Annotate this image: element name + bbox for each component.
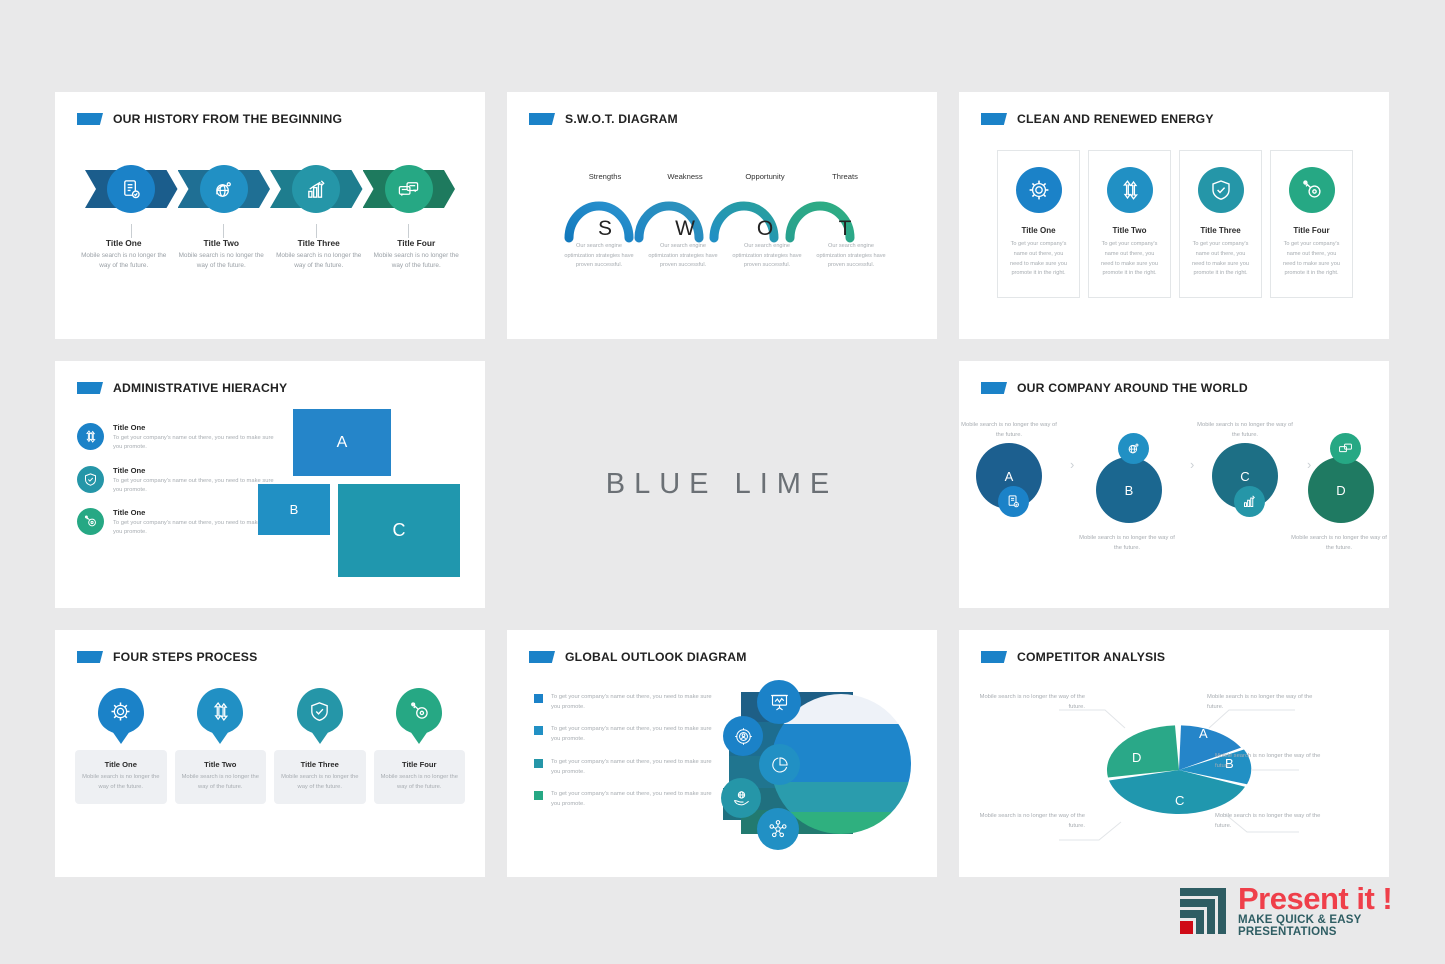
list-item[interactable]: Title One To get your company's name out… (77, 508, 277, 538)
competitor-note: Mobile search is no longer the way of th… (1215, 752, 1323, 772)
card-title: Title One (1021, 226, 1055, 235)
logo-text: Present it ! MAKE QUICK & EASY PRESENTAT… (1238, 884, 1445, 938)
network-nodes-icon (768, 819, 788, 839)
outlook-bubble[interactable] (757, 680, 801, 724)
card-desc: To get your company's name out there, yo… (998, 240, 1079, 279)
world-node-b[interactable]: B (1096, 457, 1162, 523)
row-title: Title One (113, 466, 277, 475)
logo-tagline: MAKE QUICK & EASY PRESENTATIONS (1238, 914, 1445, 938)
timeline-step-icon[interactable] (200, 165, 248, 213)
hierarchy-box-a[interactable]: A (293, 409, 391, 476)
slide-four-steps-process[interactable]: FOUR STEPS PROCESS Title One Mobile sear… (55, 630, 485, 877)
process-step[interactable]: Title One Mobile search is no longer the… (75, 688, 167, 804)
slide-company-around-world[interactable]: OUR COMPANY AROUND THE WORLD Mobile sear… (959, 361, 1389, 608)
pin-marker (396, 688, 442, 734)
page-title: OUR HISTORY FROM THE BEGINNING (113, 112, 342, 126)
page-title: GLOBAL OUTLOOK DIAGRAM (565, 650, 747, 664)
step-desc: Mobile search is no longer the way of th… (274, 251, 364, 271)
step-title: Title Two (181, 760, 261, 769)
outlook-legend: To get your company's name out there, yo… (534, 692, 714, 821)
header-marker-icon (77, 651, 103, 663)
swot-heading: Weakness (645, 172, 725, 181)
timeline (55, 154, 485, 224)
node-label: A (1005, 469, 1014, 484)
bar-growth-icon (305, 178, 328, 201)
step-title: Title Three (280, 760, 360, 769)
slide-brand-title: BLUE LIME (507, 361, 937, 608)
slide-clean-energy[interactable]: CLEAN AND RENEWED ENERGY Title One To ge… (959, 92, 1389, 339)
slide-header: FOUR STEPS PROCESS (77, 650, 257, 664)
card-title: Title Three (1200, 226, 1240, 235)
energy-cards: Title One To get your company's name out… (997, 150, 1353, 298)
legend-text: To get your company's name out there, yo… (551, 789, 714, 809)
node-badge[interactable] (1330, 433, 1361, 464)
arrows-swap-icon (209, 700, 232, 723)
node-badge[interactable] (998, 486, 1029, 517)
swot-letter: T (805, 217, 885, 241)
pin-marker (98, 688, 144, 734)
legend-swatch (534, 726, 543, 735)
swot-desc: Our search engine optimization strategie… (557, 242, 641, 271)
legend-swatch (534, 694, 543, 703)
arrows-swap-icon (83, 429, 98, 444)
presentation-chart-icon (769, 692, 790, 713)
swot-heading: Threats (805, 172, 885, 181)
chat-bubbles-icon (1338, 441, 1353, 456)
legend-swatch (534, 791, 543, 800)
swot-heading: Strengths (565, 172, 645, 181)
energy-card[interactable]: Title Three To get your company's name o… (1179, 150, 1262, 298)
header-marker-icon (981, 113, 1007, 125)
slide-header: OUR HISTORY FROM THE BEGINNING (77, 112, 342, 126)
row-desc: To get your company's name out there, yo… (113, 519, 277, 538)
slide-administrative-hierarchy[interactable]: ADMINISTRATIVE HIERACHY Title One To get… (55, 361, 485, 608)
outlook-bubble[interactable] (723, 716, 763, 756)
header-marker-icon (77, 382, 103, 394)
slide-header: CLEAN AND RENEWED ENERGY (981, 112, 1214, 126)
flow-arrow-icon: › (1070, 457, 1074, 472)
step-title: Title Four (380, 760, 460, 769)
pie-label-d: D (1132, 750, 1141, 765)
pie-slice-d (1107, 725, 1179, 777)
row-desc: To get your company's name out there, yo… (113, 434, 277, 453)
legend-item[interactable]: To get your company's name out there, yo… (534, 692, 714, 712)
competitor-note: Mobile search is no longer the way of th… (1215, 812, 1323, 832)
swot-desc: Our search engine optimization strategie… (809, 242, 893, 271)
step-desc: Mobile search is no longer the way of th… (177, 251, 267, 271)
header-marker-icon (77, 113, 103, 125)
node-badge[interactable] (1118, 433, 1149, 464)
pie-label-c: C (1175, 793, 1184, 808)
world-nodes: Mobile search is no longer the way of th… (959, 361, 1389, 608)
legend-item[interactable]: To get your company's name out there, yo… (534, 789, 714, 809)
competitor-note: Mobile search is no longer the way of th… (977, 812, 1085, 832)
timeline-label: Title Three Mobile search is no longer t… (270, 238, 368, 271)
shield-check-icon (83, 472, 98, 487)
energy-card[interactable]: Title Four To get your company's name ou… (1270, 150, 1353, 298)
document-check-icon (120, 178, 143, 201)
legend-item[interactable]: To get your company's name out there, yo… (534, 757, 714, 777)
legend-swatch (534, 759, 543, 768)
card-desc: To get your company's name out there, yo… (1089, 240, 1170, 279)
swot-desc: Our search engine optimization strategie… (725, 242, 809, 271)
card-title: Title Four (1293, 226, 1329, 235)
timeline-label: Title One Mobile search is no longer the… (75, 238, 173, 271)
pie-label-a: A (1199, 726, 1208, 741)
key-search-icon (1300, 178, 1324, 202)
chat-bubbles-icon (397, 178, 420, 201)
four-steps: Title One Mobile search is no longer the… (75, 688, 465, 804)
timeline-step-icon[interactable] (292, 165, 340, 213)
step-title: Title One (79, 238, 169, 248)
energy-card[interactable]: Title One To get your company's name out… (997, 150, 1080, 298)
gear-icon (109, 700, 132, 723)
page-title: FOUR STEPS PROCESS (113, 650, 257, 664)
pin-marker (297, 688, 343, 734)
card-desc: To get your company's name out there, yo… (1180, 240, 1261, 279)
swot-letter: O (725, 217, 805, 241)
swot-letter: W (645, 217, 725, 241)
node-badge[interactable] (1234, 486, 1265, 517)
legend-text: To get your company's name out there, yo… (551, 757, 714, 777)
document-check-icon (1006, 494, 1021, 509)
step-card: Title Two Mobile search is no longer the… (175, 750, 267, 804)
page-title: CLEAN AND RENEWED ENERGY (1017, 112, 1214, 126)
swot-descriptions: Our search engine optimization strategie… (557, 242, 893, 271)
brand-name: BLUE LIME (507, 361, 937, 608)
swot-letters: S W O T (565, 217, 885, 241)
logo-name: Present it ! (1238, 884, 1445, 913)
legend-item[interactable]: To get your company's name out there, yo… (534, 724, 714, 744)
row-title: Title One (113, 423, 277, 432)
step-desc: Mobile search is no longer the way of th… (81, 773, 161, 792)
node-label: D (1336, 483, 1345, 498)
slide-header: ADMINISTRATIVE HIERACHY (77, 381, 287, 395)
timeline-label: Title Two Mobile search is no longer the… (173, 238, 271, 271)
hand-globe-icon (732, 789, 751, 808)
page-title: COMPETITOR ANALYSIS (1017, 650, 1165, 664)
step-title: Title One (81, 760, 161, 769)
step-card: Title Three Mobile search is no longer t… (274, 750, 366, 804)
globe-graphic (735, 682, 925, 852)
flow-arrow-icon: › (1190, 457, 1194, 472)
outlook-bubble[interactable] (757, 808, 799, 850)
step-card: Title One Mobile search is no longer the… (75, 750, 167, 804)
box-label: C (338, 484, 460, 577)
step-desc: Mobile search is no longer the way of th… (79, 251, 169, 271)
outlook-bubble[interactable] (759, 744, 800, 785)
pie-chart-icon (770, 755, 790, 775)
timeline-connector-lines (55, 224, 485, 238)
slide-header: COMPETITOR ANALYSIS (981, 650, 1165, 664)
hierarchy-list: Title One To get your company's name out… (77, 423, 277, 551)
timeline-step-icon[interactable] (385, 165, 433, 213)
nested-bars-logo-icon (1176, 884, 1230, 938)
step-desc: Mobile search is no longer the way of th… (372, 251, 462, 271)
slide-grid: OUR HISTORY FROM THE BEGINNING (55, 92, 1390, 867)
competitor-note: Mobile search is no longer the way of th… (1207, 693, 1315, 713)
shield-check-icon (1209, 178, 1233, 202)
energy-card[interactable]: Title Two To get your company's name out… (1088, 150, 1171, 298)
timeline-labels: Title One Mobile search is no longer the… (75, 238, 465, 271)
swot-arches (507, 92, 937, 339)
step-title: Title Three (274, 238, 364, 248)
step-title: Title Two (177, 238, 267, 248)
slide-swot-diagram[interactable]: S.W.O.T. DIAGRAM Strengths Weakness Oppo… (507, 92, 937, 339)
list-item[interactable]: Title One To get your company's name out… (77, 466, 277, 496)
header-marker-icon (529, 651, 555, 663)
key-search-icon (83, 514, 98, 529)
card-title: Title Two (1113, 226, 1147, 235)
swot-desc: Our search engine optimization strategie… (641, 242, 725, 271)
pin-marker (197, 688, 243, 734)
node-label: C (1240, 469, 1249, 484)
timeline-label: Title Four Mobile search is no longer th… (368, 238, 466, 271)
world-node-d[interactable]: D (1308, 457, 1374, 523)
box-label: A (293, 409, 391, 476)
timeline-icon-circles (85, 154, 455, 224)
swot-headings: Strengths Weakness Opportunity Threats (565, 172, 885, 181)
process-step[interactable]: Title Three Mobile search is no longer t… (274, 688, 366, 804)
slide-competitor-analysis[interactable]: COMPETITOR ANALYSIS A B C D (959, 630, 1389, 877)
timeline-step-icon[interactable] (107, 165, 155, 213)
hierarchy-box-b[interactable]: B (258, 484, 330, 535)
legend-text: To get your company's name out there, yo… (551, 692, 714, 712)
process-step[interactable]: Title Two Mobile search is no longer the… (175, 688, 267, 804)
step-desc: Mobile search is no longer the way of th… (181, 773, 261, 792)
node-label: B (1125, 483, 1134, 498)
competitor-note: Mobile search is no longer the way of th… (977, 693, 1085, 713)
globe-orbit-icon (1126, 441, 1141, 456)
legend-text: To get your company's name out there, yo… (551, 724, 714, 744)
swot-heading: Opportunity (725, 172, 805, 181)
target-user-icon (734, 727, 753, 746)
row-desc: To get your company's name out there, yo… (113, 477, 277, 496)
header-marker-icon (981, 651, 1007, 663)
step-desc: Mobile search is no longer the way of th… (280, 773, 360, 792)
slide-our-history[interactable]: OUR HISTORY FROM THE BEGINNING (55, 92, 485, 339)
list-item[interactable]: Title One To get your company's name out… (77, 423, 277, 453)
shield-check-icon (308, 700, 331, 723)
node-desc: Mobile search is no longer the way of th… (1075, 534, 1179, 554)
step-desc: Mobile search is no longer the way of th… (380, 773, 460, 792)
hierarchy-box-c[interactable]: C (338, 484, 460, 577)
node-desc: Mobile search is no longer the way of th… (1287, 534, 1389, 554)
swot-letter: S (565, 217, 645, 241)
box-label: B (258, 484, 330, 535)
outlook-bubble[interactable] (721, 778, 761, 818)
step-title: Title Four (372, 238, 462, 248)
process-step[interactable]: Title Four Mobile search is no longer th… (374, 688, 466, 804)
step-card: Title Four Mobile search is no longer th… (374, 750, 466, 804)
page-title: ADMINISTRATIVE HIERACHY (113, 381, 287, 395)
arrows-swap-icon (1118, 178, 1142, 202)
globe-orbit-icon (212, 178, 235, 201)
slide-global-outlook[interactable]: GLOBAL OUTLOOK DIAGRAM To get your compa… (507, 630, 937, 877)
bar-growth-icon (1242, 494, 1257, 509)
slide-header: GLOBAL OUTLOOK DIAGRAM (529, 650, 747, 664)
row-title: Title One (113, 508, 277, 517)
card-desc: To get your company's name out there, yo… (1271, 240, 1352, 279)
key-search-icon (408, 700, 431, 723)
gear-icon (1027, 178, 1051, 202)
present-it-logo[interactable]: Present it ! MAKE QUICK & EASY PRESENTAT… (1176, 884, 1445, 938)
